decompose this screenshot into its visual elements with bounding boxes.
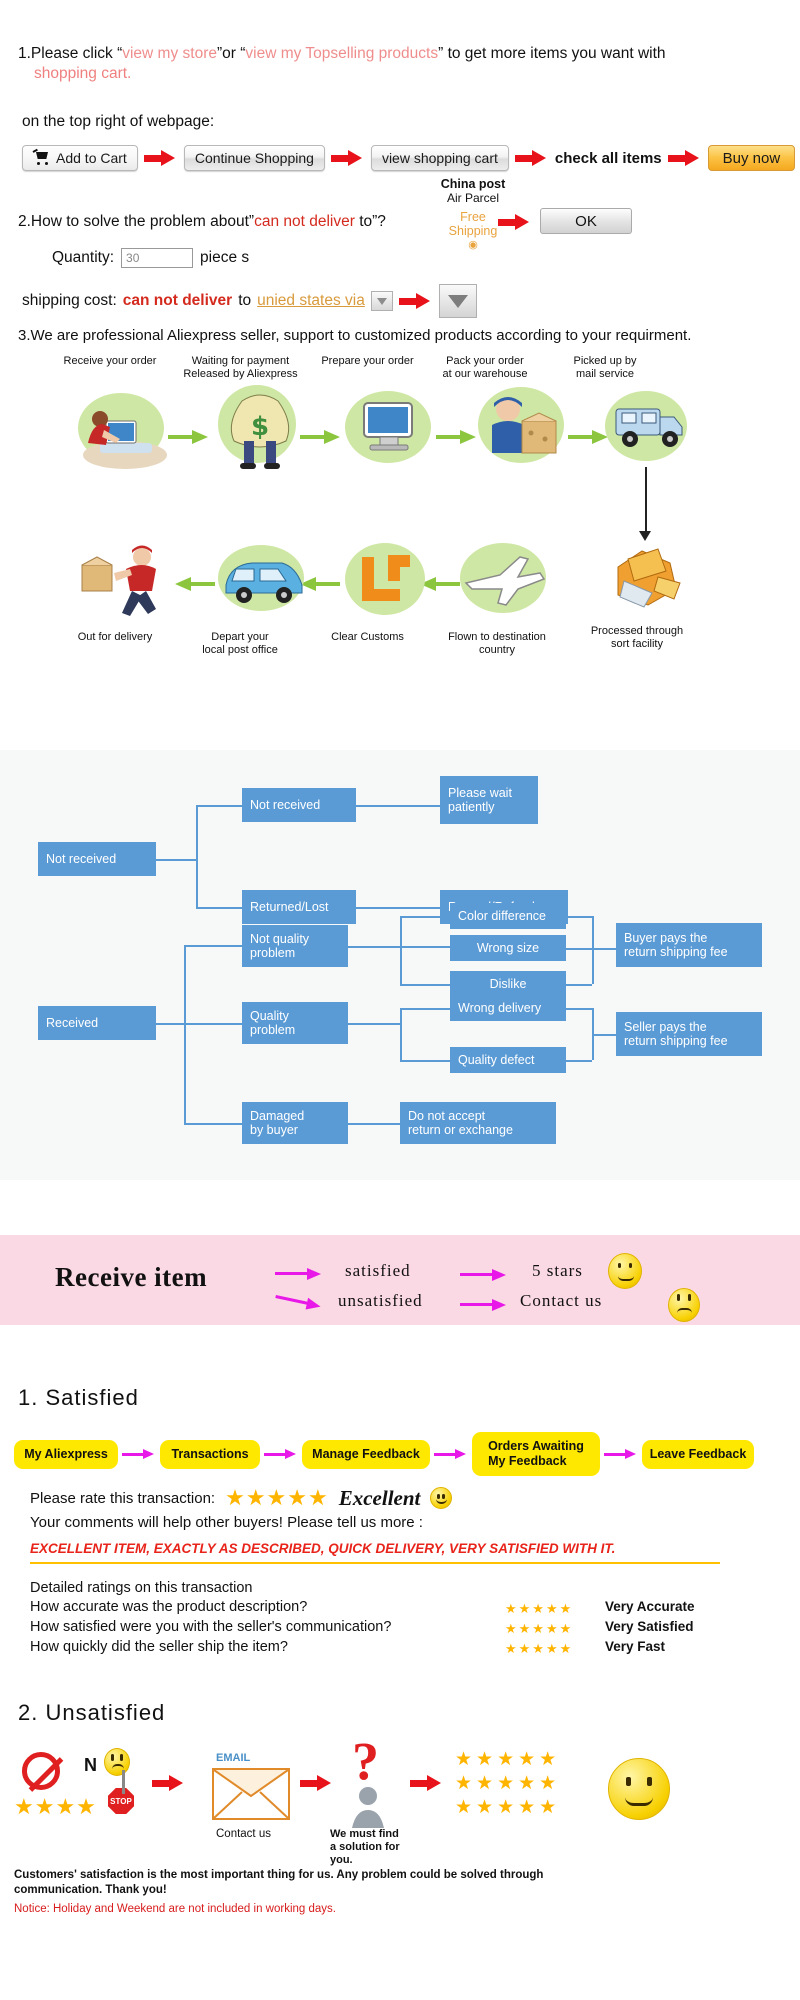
arrow-right-icon (152, 1775, 186, 1791)
flow-node-damaged-by-buyer: Damaged by buyer (242, 1102, 348, 1144)
flow-connector (400, 1008, 450, 1010)
thinking-person-icon (340, 1784, 396, 1833)
good-rating-stars-row: ★★★★★ (455, 1772, 560, 1795)
process-step-label: Pack your order at our warehouse (420, 355, 550, 381)
section1-text-b: ”or “ (217, 45, 245, 62)
shipping-to-label: to (238, 292, 251, 310)
section2-title-red: can not deliver (254, 213, 355, 230)
section2-title: 2.How to solve the problem about”can not… (18, 213, 386, 231)
process-step-label: Processed through sort facility (572, 625, 702, 651)
flow-connector (400, 984, 450, 986)
process-arrow-icon (436, 430, 476, 444)
flow-connector (592, 948, 616, 950)
flow-node-not-received-root: Not received (38, 842, 156, 876)
process-step-label: Prepare your order (300, 355, 435, 368)
flow-connector (566, 1008, 592, 1010)
rate-label: Please rate this transaction: (30, 1490, 215, 1507)
banner-satisfied-label: satisfied (345, 1261, 411, 1281)
step-my-aliexpress[interactable]: My Aliexpress (14, 1440, 118, 1469)
return-policy-flowchart: Not received Not received Please wait pa… (0, 750, 800, 1180)
product-description-page: 1.Please click “view my store”or “view m… (0, 0, 800, 2000)
flow-connector (196, 907, 242, 909)
sorting-facility-icon (600, 537, 690, 620)
flow-connector (566, 916, 592, 918)
flow-connector (156, 859, 196, 861)
email-envelope-icon (212, 1768, 290, 1820)
flow-node-returned-lost: Returned/Lost (242, 890, 356, 924)
van-icon (218, 551, 310, 614)
comment-text: EXCELLENT ITEM, EXACTLY AS DESCRIBED, QU… (30, 1541, 615, 1556)
arrow-right-icon (604, 1449, 638, 1459)
process-arrow-icon (300, 430, 340, 444)
receive-item-title: Receive item (55, 1262, 207, 1293)
comments-prompt: Your comments will help other buyers! Pl… (30, 1514, 423, 1531)
flow-connector (348, 946, 400, 948)
flow-node-buyer-pays: Buyer pays the return shipping fee (616, 923, 762, 967)
detail-question: How satisfied were you with the seller's… (30, 1619, 391, 1635)
flow-connector (592, 916, 594, 984)
carrier-info: China post Air Parcel (418, 177, 528, 205)
arrow-right-icon (668, 150, 702, 166)
flow-connector (400, 1008, 402, 1060)
flow-node-please-wait: Please wait patiently (440, 776, 538, 824)
shipping-cannot-deliver: can not deliver (123, 292, 232, 310)
shipping-method-dropdown-button[interactable] (439, 284, 477, 318)
flow-connector (566, 1060, 592, 1062)
feedback-step-flow: My Aliexpress Transactions Manage Feedba… (14, 1432, 754, 1476)
detailed-ratings-title: Detailed ratings on this transaction (30, 1580, 252, 1596)
flow-connector (348, 1023, 400, 1025)
footer-line2: communication. Thank you! (14, 1883, 167, 1898)
delivery-man-running-icon (78, 543, 174, 626)
sad-face-icon (104, 1748, 130, 1776)
bad-rating-stars: ★★★★ (14, 1794, 97, 1820)
flow-connector (400, 916, 450, 918)
country-dropdown-button[interactable] (371, 291, 393, 311)
arrow-5stars-icon (460, 1269, 508, 1281)
happy-face-icon (608, 1253, 642, 1289)
good-rating-stars-row: ★★★★★ (455, 1748, 560, 1771)
detail-stars: ★★★★★ (505, 1641, 573, 1657)
money-bag-runner-icon: $ (220, 383, 300, 476)
arrow-right-icon (399, 293, 433, 309)
svg-text:$: $ (251, 412, 269, 442)
process-step-label: Picked up by mail service (545, 355, 665, 381)
shopping-cart-icon (33, 151, 50, 165)
flow-connector (566, 948, 592, 950)
arrow-right-icon (410, 1775, 444, 1791)
contact-us-label: Contact us (216, 1828, 271, 1840)
comment-underline (30, 1562, 720, 1564)
process-step-label: Flown to destination country (432, 631, 562, 657)
no-label: N (84, 1755, 97, 1776)
flow-node-dislike: Dislike (450, 971, 566, 997)
no-rating-icon (22, 1752, 60, 1790)
quantity-label: Quantity: (52, 249, 114, 267)
quantity-row: Quantity: 30 piece s (52, 248, 249, 268)
step-transactions[interactable]: Transactions (160, 1440, 260, 1469)
detail-question: How accurate was the product description… (30, 1599, 307, 1615)
flow-node-wrong-delivery: Wrong delivery (450, 995, 566, 1021)
arrow-right-icon (331, 150, 365, 166)
detail-verdict: Very Satisfied (605, 1619, 694, 1634)
view-my-store-link[interactable]: view my store (122, 45, 217, 62)
footer-notice: Notice: Holiday and Weekend are not incl… (14, 1903, 336, 1915)
quantity-input[interactable]: 30 (121, 248, 193, 268)
banner-contact-us-label: Contact us (520, 1291, 602, 1311)
happy-face-icon (430, 1487, 452, 1509)
connector-line (645, 467, 647, 535)
monitor-icon (352, 395, 426, 462)
person-at-computer-icon (80, 403, 170, 476)
carrier-service: Air Parcel (418, 191, 528, 205)
flow-node-no-return: Do not accept return or exchange (400, 1102, 556, 1144)
flow-node-received-root: Received (38, 1006, 156, 1040)
banner-unsatisfied-label: unsatisfied (338, 1291, 423, 1311)
customs-stamp-icon (348, 547, 424, 616)
detail-stars: ★★★★★ (505, 1601, 573, 1617)
rating-stars[interactable]: ★★★★★ (225, 1485, 329, 1511)
section1-line2: shopping cart. (34, 65, 131, 83)
rate-transaction-row: Please rate this transaction: ★★★★★ Exce… (30, 1485, 452, 1511)
add-to-cart-button[interactable]: Add to Cart (22, 145, 138, 171)
step-orders-awaiting[interactable]: Orders Awaiting My Feedback (472, 1432, 600, 1476)
flow-node-quality-problem: Quality problem (242, 1002, 348, 1044)
sad-face-icon (668, 1288, 700, 1322)
process-arrow-icon (175, 577, 215, 591)
flow-node-seller-pays: Seller pays the return shipping fee (616, 1012, 762, 1056)
shipping-cost-label: shipping cost: (22, 292, 117, 310)
view-shopping-cart-button[interactable]: view shopping cart (371, 145, 509, 171)
detail-question: How quickly did the seller ship the item… (30, 1639, 288, 1655)
piece-label: piece s (200, 249, 249, 267)
section1-line3: on the top right of webpage: (22, 113, 214, 131)
unsatisfied-heading: 2. Unsatisfied (18, 1700, 165, 1726)
flow-connector (184, 945, 242, 947)
big-happy-face-icon (608, 1758, 670, 1820)
flow-node-not-quality-problem: Not quality problem (242, 925, 348, 967)
detail-verdict: Very Fast (605, 1639, 665, 1654)
continue-shopping-button[interactable]: Continue Shopping (184, 145, 325, 171)
process-arrow-icon (568, 430, 608, 444)
step-manage-feedback[interactable]: Manage Feedback (302, 1440, 430, 1469)
email-label: EMAIL (216, 1752, 250, 1764)
stop-sign-pole (122, 1770, 125, 1794)
section2-title-a: 2.How to solve the problem about” (18, 213, 254, 230)
arrow-right-icon (144, 150, 178, 166)
section1-line1: 1.Please click “view my store”or “view m… (18, 45, 666, 63)
flow-connector (348, 1123, 400, 1125)
process-arrow-icon (168, 430, 208, 444)
detail-verdict: Very Accurate (605, 1599, 695, 1614)
destination-country-link[interactable]: unied states via (257, 292, 365, 310)
info-dot-icon: ◉ (418, 238, 528, 252)
flow-connector (184, 1023, 242, 1025)
process-arrow-icon (420, 577, 460, 591)
section2-title-b: to”? (355, 213, 386, 230)
free-shipping-line1: Free (460, 210, 486, 224)
worker-with-box-icon (478, 387, 568, 470)
we-must-find-label: We must find a solution for you. (330, 1828, 400, 1867)
buy-now-label: Buy now (723, 150, 781, 167)
arrow-right-icon (264, 1449, 298, 1459)
flow-connector (196, 805, 242, 807)
rating-word: Excellent (339, 1486, 421, 1511)
arrow-satisfied-icon (275, 1268, 323, 1280)
question-mark-icon: ? (352, 1730, 379, 1792)
arrow-right-icon (300, 1775, 334, 1791)
check-all-items-label: check all items (555, 150, 662, 167)
process-step-label: Depart your local post office (180, 631, 300, 657)
continue-shopping-label: Continue Shopping (195, 150, 314, 166)
flow-connector (184, 945, 186, 1123)
flow-connector (156, 1023, 184, 1025)
add-to-cart-label: Add to Cart (56, 150, 127, 166)
flow-connector (400, 1060, 450, 1062)
section1-text-c: ” to get more items you want with (438, 45, 665, 62)
arrow-contact-icon (460, 1299, 508, 1311)
arrow-right-icon (122, 1449, 156, 1459)
free-shipping-line2: Shipping (449, 224, 498, 238)
process-step-label: Receive your order (45, 355, 175, 368)
section3-title: 3.We are professional Aliexpress seller,… (18, 327, 691, 344)
flow-connector (184, 1123, 242, 1125)
view-my-topselling-link[interactable]: view my Topselling products (245, 45, 438, 62)
view-shopping-cart-label: view shopping cart (382, 150, 498, 166)
arrow-right-icon (515, 150, 549, 166)
ok-label: OK (575, 213, 597, 230)
satisfied-heading: 1. Satisfied (18, 1385, 139, 1411)
ok-button[interactable]: OK (540, 208, 632, 234)
flow-node-color-difference: Color difference (450, 903, 566, 929)
flow-connector (356, 907, 440, 909)
good-rating-stars-row: ★★★★★ (455, 1796, 560, 1819)
flow-connector (196, 805, 198, 907)
cart-button-flow: Add to Cart Continue Shopping view shopp… (22, 145, 795, 171)
flow-node-quality-defect: Quality defect (450, 1047, 566, 1073)
banner-5-stars-label: 5 stars (532, 1261, 583, 1281)
carrier-name: China post (418, 177, 528, 191)
process-step-label: Clear Customs (310, 631, 425, 644)
flow-node-not-received: Not received (242, 788, 356, 822)
shipping-cost-row: shipping cost:can not deliver to unied s… (22, 284, 477, 318)
delivery-truck-icon (608, 395, 688, 460)
arrow-right-icon (434, 1449, 468, 1459)
detail-stars: ★★★★★ (505, 1621, 573, 1637)
shipping-process-diagram: Receive your order Waiting for payment R… (0, 355, 800, 745)
flow-connector (400, 916, 402, 984)
stop-sign-icon: STOP (108, 1788, 134, 1814)
flow-connector (400, 946, 450, 948)
section1-text-a: 1.Please click “ (18, 45, 122, 62)
footer-line1: Customers' satisfaction is the most impo… (14, 1868, 543, 1883)
process-step-label: Waiting for payment Released by Aliexpre… (168, 355, 313, 381)
flow-connector (356, 805, 440, 807)
buy-now-button[interactable]: Buy now (708, 145, 796, 171)
flow-connector (566, 984, 592, 986)
stop-label: STOP (110, 1797, 132, 1806)
airplane-icon (460, 547, 548, 616)
step-leave-feedback[interactable]: Leave Feedback (642, 1440, 754, 1469)
flow-connector (592, 1034, 616, 1036)
arrow-right-icon (498, 214, 532, 230)
flow-node-wrong-size: Wrong size (450, 935, 566, 961)
process-step-label: Out for delivery (50, 631, 180, 644)
